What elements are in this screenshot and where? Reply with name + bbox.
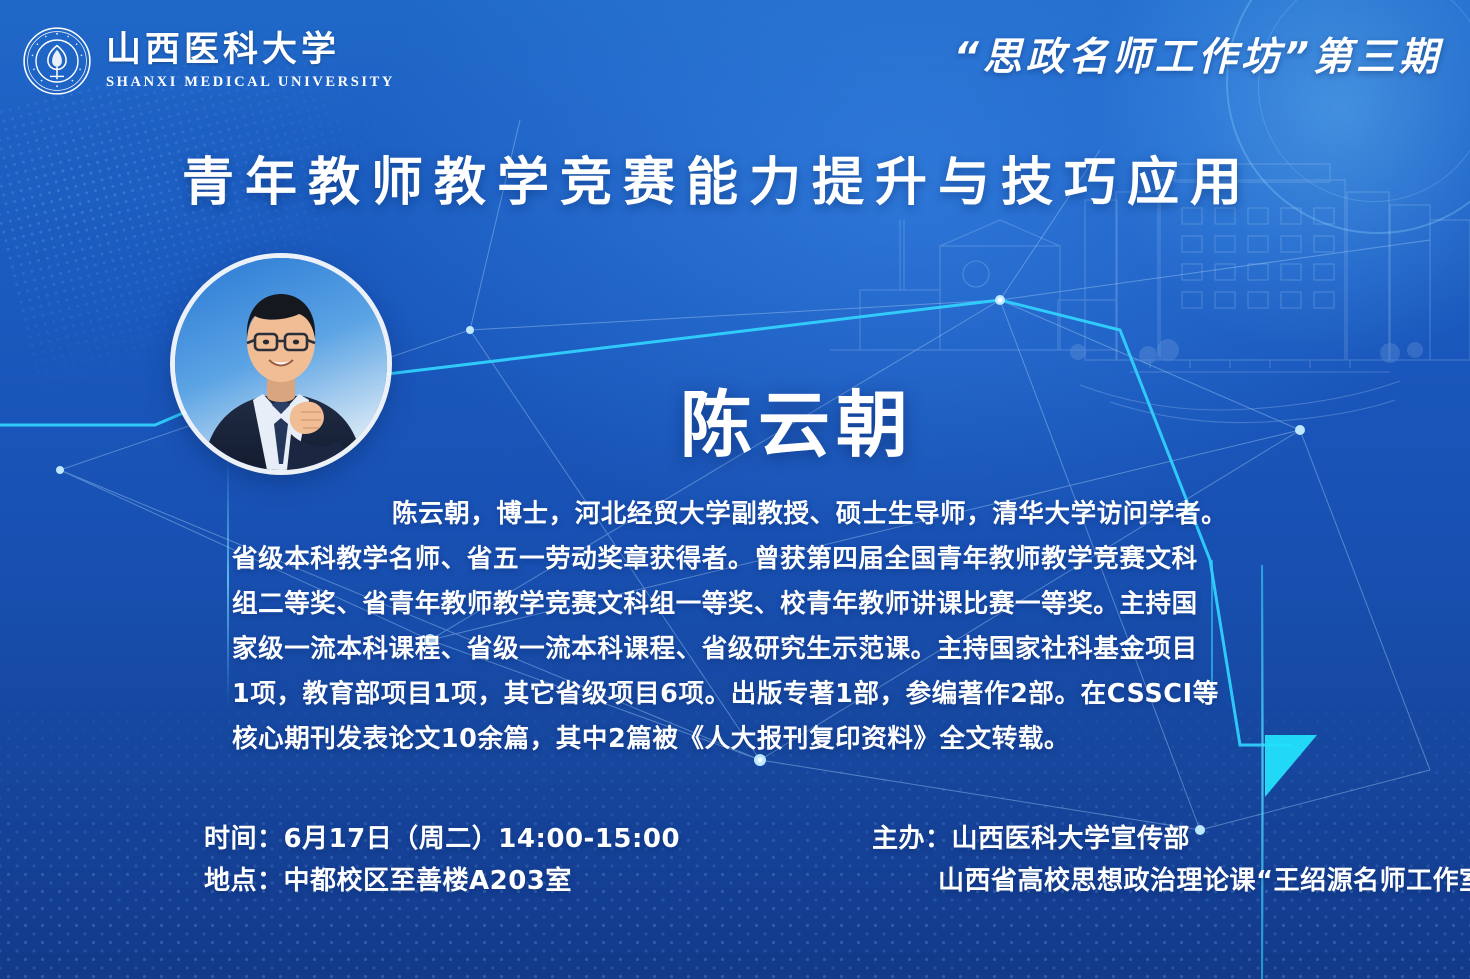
event-organizers: 主办：山西医科大学宣传部 山西省高校思想政治理论课“王绍源名师工作室” (872, 818, 1470, 902)
accent-vertical-line-2 (1262, 560, 1264, 979)
speaker-portrait-illustration (175, 258, 387, 470)
university-name-en: SHANXI MEDICAL UNIVERSITY (106, 75, 395, 90)
event-place: 地点：中都校区至善楼A203室 (204, 860, 680, 902)
speaker-bio: 陈云朝，博士，河北经贸大学副教授、硕士生导师，清华大学访问学者。 省级本科教学名… (232, 498, 1262, 767)
accent-vertical-line-1 (227, 455, 229, 705)
shanxi-medical-university-emblem-icon (22, 26, 92, 96)
bio-line: 省级本科教学名师、省五一劳动奖章获得者。曾获第四届全国青年教师教学竞赛文科 (232, 543, 1262, 577)
speaker-portrait (175, 258, 387, 470)
workshop-series-label: “思政名师工作坊”第三期 (954, 26, 1442, 82)
event-details: 时间：6月17日（周二）14:00-15:00 地点：中都校区至善楼A203室 (204, 818, 680, 902)
bio-line: 家级一流本科课程、省级一流本科课程、省级研究生示范课。主持国家社科基金项目 (232, 633, 1262, 667)
cyan-triangle-accent (1265, 735, 1317, 797)
bio-line: 组二等奖、省青年教师教学竞赛文科组一等奖、校青年教师讲课比赛一等奖。主持国 (232, 588, 1262, 622)
bio-line: 核心期刊发表论文10余篇，其中2篇被《人大报刊复印资料》全文转载。 (232, 723, 1262, 757)
organizer-primary: 主办：山西医科大学宣传部 (872, 818, 1470, 860)
event-poster: 山西医科大学 SHANXI MEDICAL UNIVERSITY “思政名师工作… (0, 0, 1470, 979)
university-name-cn: 山西医科大学 (106, 33, 395, 68)
event-time: 时间：6月17日（周二）14:00-15:00 (204, 818, 680, 860)
bio-line: 陈云朝，博士，河北经贸大学副教授、硕士生导师，清华大学访问学者。 (232, 498, 1262, 532)
university-brand: 山西医科大学 SHANXI MEDICAL UNIVERSITY (22, 26, 395, 96)
page-title: 青年教师教学竞赛能力提升与技巧应用 (182, 140, 1253, 215)
organizer-secondary: 山西省高校思想政治理论课“王绍源名师工作室” (872, 860, 1470, 902)
bio-line: 1项，教育部项目1项，其它省级项目6项。出版专著1部，参编著作2部。在CSSCI… (232, 678, 1262, 712)
speaker-name: 陈云朝 (680, 366, 914, 471)
